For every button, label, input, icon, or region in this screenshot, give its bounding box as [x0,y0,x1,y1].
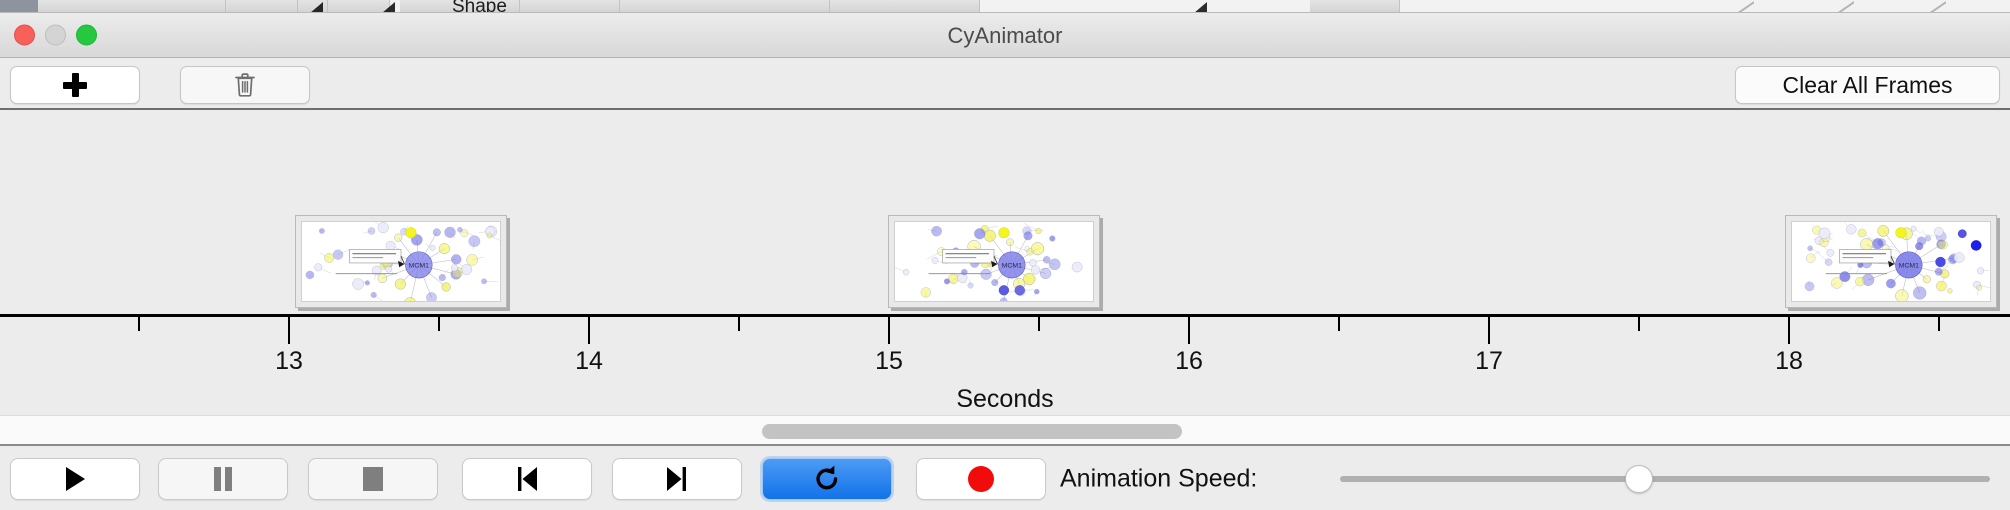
frame-network-preview: MCM1 [1791,221,1991,302]
timeline-tick-minor [438,317,440,331]
timeline-tick-label: 13 [275,347,303,376]
timeline-tick-major [1188,317,1190,344]
svg-text:MCM1: MCM1 [409,262,430,269]
skip-to-start-button[interactable] [462,458,592,500]
timeline-tick-label: 17 [1475,347,1503,376]
timeline-tick-minor [138,317,140,331]
frame-network-preview: MCM1 [301,221,501,302]
plus-icon [63,73,87,97]
animation-speed-knob[interactable] [1625,465,1653,493]
animation-speed-slider[interactable] [1340,465,1990,493]
timeline-tick-minor [1938,317,1940,331]
trash-icon [234,72,256,98]
frame-thumbnail[interactable]: MCM1 [295,215,507,308]
title-bar: CyAnimator [0,13,2010,58]
timeline-tick-major [1488,317,1490,344]
timeline-axis [0,314,2010,317]
timeline-scrollbar[interactable] [0,415,2010,446]
timeline-tick-label: 18 [1775,347,1803,376]
record-icon [968,466,994,492]
pause-icon [211,465,235,493]
delete-frame-button[interactable] [180,66,310,104]
timeline-panel[interactable]: MCM1 MCM1 [0,110,2010,415]
record-button[interactable] [916,458,1046,500]
clear-all-frames-label: Clear All Frames [1783,72,1953,99]
timeline-tick-minor [1638,317,1640,331]
timeline-tick-major [888,317,890,344]
playback-bar: Animation Speed: [0,448,2010,510]
cyanimator-window: Shape CyAnimator Cl [0,0,2010,510]
play-icon [62,465,88,493]
timeline-tick-major [288,317,290,344]
toolbar: Clear All Frames [0,58,2010,110]
timeline-tick-label: 16 [1175,347,1203,376]
add-frame-button[interactable] [10,66,140,104]
pause-button[interactable] [158,458,288,500]
stop-button[interactable] [308,458,438,500]
animation-speed-label: Animation Speed: [1060,465,1257,494]
skip-forward-icon [664,465,690,493]
animation-speed-track[interactable] [1340,476,1990,482]
timeline-tick-major [588,317,590,344]
svg-text:MCM1: MCM1 [1899,262,1920,269]
play-button[interactable] [10,458,140,500]
timeline-tick-label: 15 [875,347,903,376]
timeline-tick-label: 14 [575,347,603,376]
window-title: CyAnimator [0,13,2010,58]
timeline-tick-minor [1038,317,1040,331]
frame-thumbnail[interactable]: MCM1 [888,215,1100,308]
skip-back-icon [514,465,540,493]
timeline-tick-minor [1338,317,1340,331]
timeline-scrollbar-thumb[interactable] [762,424,1182,439]
skip-to-end-button[interactable] [612,458,742,500]
timeline-axis-title: Seconds [0,385,2010,414]
timeline-tick-minor [738,317,740,331]
loop-icon [812,464,842,494]
background-window-strip: Shape [0,0,2010,13]
loop-button[interactable] [762,458,892,500]
stop-icon [361,466,385,492]
timeline-tick-major [1788,317,1790,344]
svg-text:MCM1: MCM1 [1002,262,1023,269]
frame-network-preview: MCM1 [894,221,1094,302]
clear-all-frames-button[interactable]: Clear All Frames [1735,66,2000,104]
frame-thumbnail[interactable]: MCM1 [1785,215,1997,308]
